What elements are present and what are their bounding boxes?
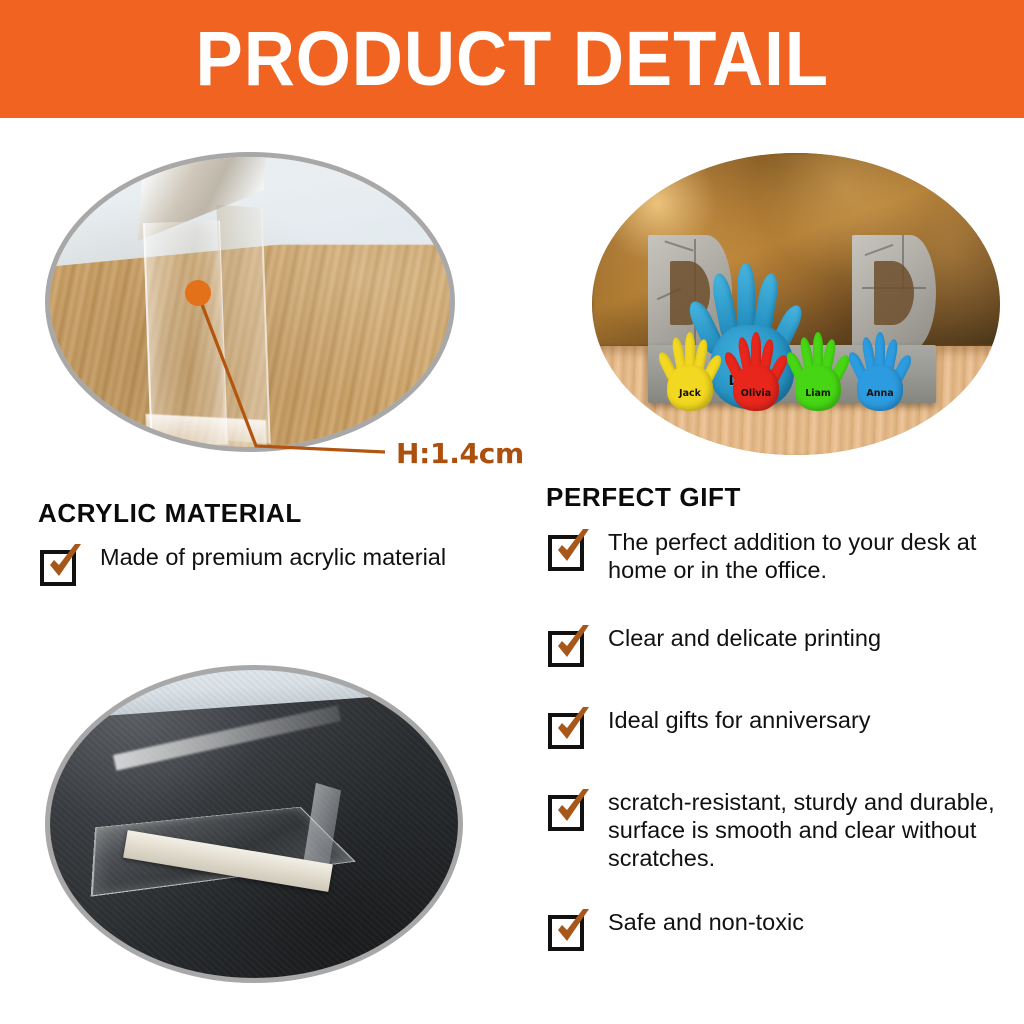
- handprint-child-3: Liam: [788, 333, 848, 411]
- height-callout-label: H:1.4cm: [396, 437, 524, 470]
- checkmark-icon: [548, 530, 590, 572]
- checkmark-icon: [548, 626, 590, 668]
- section-heading-acrylic-material: ACRYLIC MATERIAL: [38, 498, 302, 529]
- checkmark-icon: [548, 708, 590, 750]
- feature-text: The perfect addition to your desk at hom…: [608, 528, 1014, 584]
- feature-text: scratch-resistant, sturdy and durable, s…: [608, 788, 1016, 873]
- photo-acrylic-block-edge: [45, 152, 455, 452]
- plaque-scene: Daddy Jack Olivia: [592, 153, 1000, 455]
- acrylic-block-standing: [141, 173, 268, 447]
- feature-item-gift-3: Ideal gifts for anniversary: [548, 706, 1014, 750]
- page-title: PRODUCT DETAIL: [195, 21, 828, 98]
- feature-text: Safe and non-toxic: [608, 908, 804, 937]
- feature-item-gift-1: The perfect addition to your desk at hom…: [548, 528, 1014, 584]
- feature-item-acrylic-1: Made of premium acrylic material: [40, 543, 520, 587]
- handprint-label-child-4: Anna: [866, 388, 893, 399]
- feature-text: Clear and delicate printing: [608, 624, 881, 653]
- feature-item-gift-4: scratch-resistant, sturdy and durable, s…: [548, 788, 1016, 873]
- handprint-child-4: Anna: [850, 333, 910, 411]
- handprint-child-1: Jack: [660, 333, 720, 411]
- handprint-child-2: Olivia: [726, 333, 786, 411]
- acrylic-slab: [96, 722, 388, 930]
- feature-text: Ideal gifts for anniversary: [608, 706, 871, 735]
- feature-item-gift-2: Clear and delicate printing: [548, 624, 1014, 668]
- checkmark-icon: [548, 910, 590, 952]
- photo-dad-handprint-plaque: Daddy Jack Olivia: [592, 153, 1000, 455]
- checkmark-icon: [40, 545, 82, 587]
- handprint-label-child-1: Jack: [679, 388, 701, 399]
- photo-acrylic-block-on-slate: [45, 665, 463, 983]
- feature-text: Made of premium acrylic material: [100, 543, 446, 572]
- header-banner: PRODUCT DETAIL: [0, 0, 1024, 118]
- section-heading-perfect-gift: PERFECT GIFT: [546, 482, 741, 513]
- handprint-label-child-2: Olivia: [741, 388, 771, 399]
- feature-item-gift-5: Safe and non-toxic: [548, 908, 1014, 952]
- checkmark-icon: [548, 790, 590, 832]
- handprint-label-child-3: Liam: [805, 388, 831, 399]
